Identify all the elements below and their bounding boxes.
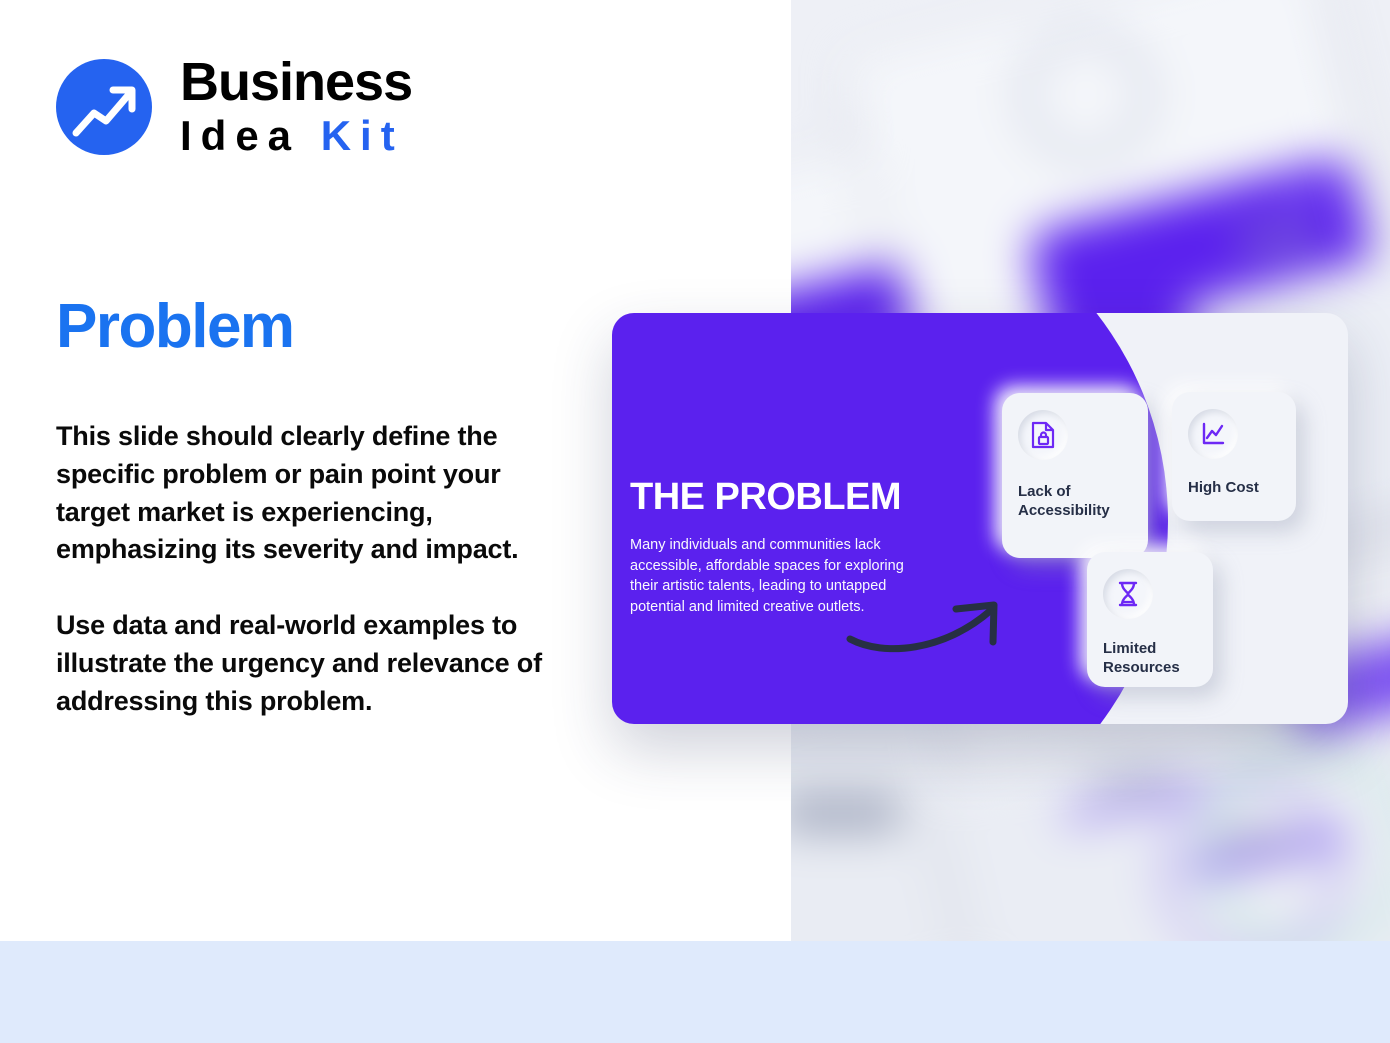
bottom-band bbox=[0, 941, 1390, 1043]
hourglass-icon bbox=[1103, 569, 1153, 619]
body-paragraph-1: This slide should clearly define the spe… bbox=[56, 418, 576, 569]
slide-title: THE PROBLEM bbox=[630, 478, 901, 516]
growth-arrow-chart-icon bbox=[56, 59, 152, 155]
brand-name-kit: Kit bbox=[321, 112, 404, 159]
document-lock-icon bbox=[1018, 410, 1068, 460]
line-chart-icon bbox=[1188, 409, 1238, 459]
feature-card-limited-resources[interactable]: Limited Resources bbox=[1087, 552, 1213, 687]
body-paragraph-2: Use data and real-world examples to illu… bbox=[56, 607, 576, 720]
slide-preview-page: Business Idea Kit Problem This slide sho… bbox=[0, 0, 1390, 1043]
feature-card-label: High Cost bbox=[1188, 479, 1286, 498]
feature-card-label: Lack of Accessibility bbox=[1018, 483, 1138, 521]
feature-card-lack-of-accessibility[interactable]: Lack of Accessibility bbox=[1002, 393, 1148, 558]
brand-logo[interactable]: Business Idea Kit bbox=[56, 55, 412, 159]
brand-name-line2: Idea Kit bbox=[180, 113, 412, 159]
feature-card-label: Limited Resources bbox=[1103, 640, 1203, 678]
brand-wordmark: Business Idea Kit bbox=[180, 55, 412, 159]
feature-card-high-cost[interactable]: High Cost bbox=[1172, 392, 1296, 521]
brand-name-line1: Business bbox=[180, 55, 412, 109]
slide-card[interactable]: THE PROBLEM Many individuals and communi… bbox=[612, 313, 1348, 724]
page-title: Problem bbox=[56, 296, 294, 358]
curved-arrow-up-right-icon bbox=[844, 591, 1014, 666]
brand-name-idea: Idea bbox=[180, 112, 321, 159]
body-copy: This slide should clearly define the spe… bbox=[56, 418, 576, 721]
